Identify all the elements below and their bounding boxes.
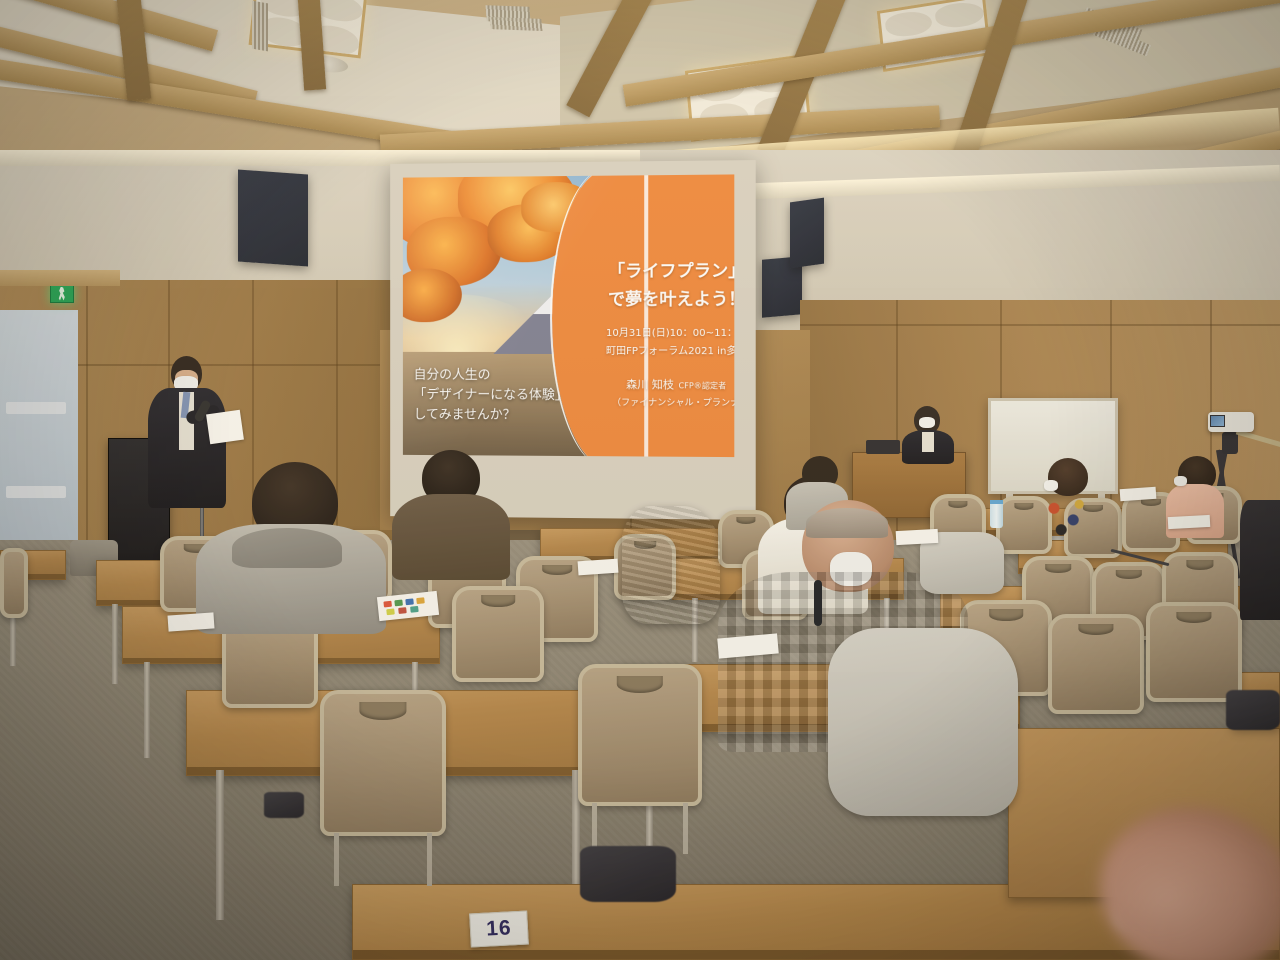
- table-number-card: 16: [469, 911, 529, 948]
- water-bottle[interactable]: [990, 500, 1003, 528]
- emergency-exit-icon: [50, 284, 74, 303]
- foreground-blur-hand: [1100, 807, 1280, 960]
- slide-event-name: 町田FPフォーラム2021 in多摩: [606, 346, 734, 359]
- wall-acoustic-panel: [790, 198, 824, 269]
- handout-paper[interactable]: [1120, 487, 1157, 501]
- handout-paper[interactable]: [167, 612, 214, 631]
- bag-on-floor: [580, 846, 676, 902]
- slide-headline-line1: 「ライフプラン」: [608, 261, 734, 283]
- slide-orange-panel: 「ライフプラン」 で夢を叶えよう！ 10月31日(日)10：00~11：00 町…: [598, 174, 734, 457]
- slide-left-line1: 自分の人生の: [414, 368, 491, 385]
- air-vent-grille: [490, 17, 543, 31]
- chair[interactable]: [452, 586, 544, 682]
- table-number-value: 16: [486, 916, 513, 941]
- slide-left-line2: 「デザイナーになる体験」: [414, 388, 568, 405]
- grey-coat-on-chair: [828, 628, 1018, 816]
- laptop[interactable]: [866, 440, 900, 454]
- slide-headline-line2: で夢を叶えよう！: [608, 289, 734, 311]
- presenter: [900, 406, 956, 460]
- slide-speaker-name: 森川 知枝: [626, 378, 674, 392]
- slide-speaker-role: （ファイナンシャル・プランナー）: [612, 398, 734, 410]
- air-vent-grille: [252, 1, 268, 52]
- handout-paper[interactable]: [896, 529, 939, 545]
- slide-datetime: 10月31日(日)10：00~11：00: [606, 328, 734, 341]
- handout-paper[interactable]: [1168, 515, 1211, 529]
- chair[interactable]: [1146, 602, 1242, 702]
- chair[interactable]: [578, 664, 702, 806]
- wall-acoustic-panel: [238, 170, 308, 267]
- slide-left-line3: してみませんか？: [414, 407, 516, 424]
- attendee-far-right-light: [1240, 500, 1280, 620]
- script-paper: [206, 410, 244, 444]
- chair[interactable]: [1048, 614, 1144, 714]
- seminar-room-photo: 自分の人生の 「デザイナーになる体験」 してみませんか？ 「ライフプラン」 で夢…: [0, 0, 1280, 960]
- handout-paper[interactable]: [578, 559, 619, 576]
- wall-side-strip: [0, 270, 120, 286]
- purple-down-jacket: [622, 506, 720, 624]
- attendee-grey-hoodie: [196, 462, 386, 622]
- presentation-slide: 自分の人生の 「デザイナーになる体験」 してみませんか？ 「ライフプラン」 で夢…: [403, 174, 734, 457]
- attendee-brown-hoodie: [392, 450, 510, 570]
- chair[interactable]: [320, 690, 446, 836]
- bag-on-floor: [264, 792, 304, 818]
- bag-on-floor: [1226, 690, 1280, 730]
- chair[interactable]: [0, 548, 28, 618]
- attendee-patterned-blouse: [1036, 458, 1096, 536]
- camcorder: [1208, 412, 1254, 432]
- slide-speaker-cert: CFP®認定者: [679, 381, 727, 391]
